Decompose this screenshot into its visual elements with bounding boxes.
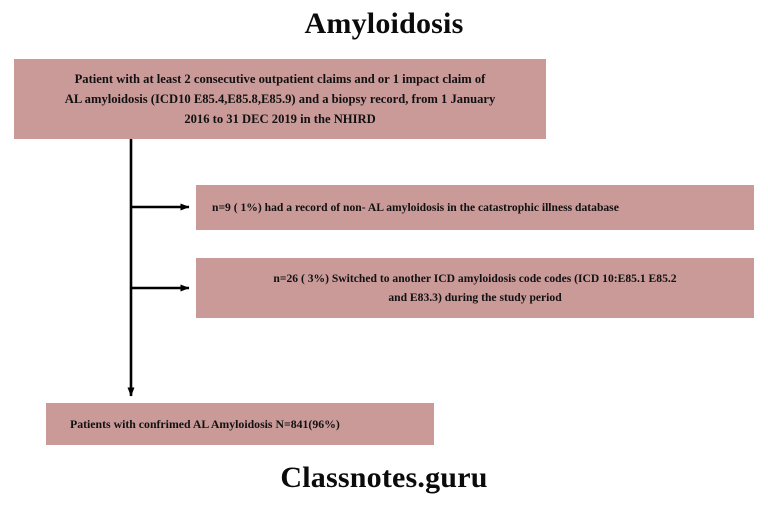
page-title: Amyloidosis [0,6,768,42]
flow-node-exclusion-2: n=26 ( 3%) Switched to another ICD amylo… [196,258,754,318]
exclusion-2-line-2: and E83.3) during the study period [388,291,561,304]
flow-node-exclusion-2-text: n=26 ( 3%) Switched to another ICD amylo… [206,269,744,307]
flow-node-population-text: Patient with at least 2 consecutive outp… [24,69,536,129]
population-line-2: AL amyloidosis (ICD10 E85.4,E85.8,E85.9)… [65,92,496,106]
exclusion-2-line-1: n=26 ( 3%) Switched to another ICD amylo… [273,272,676,285]
result-line-1: Patients with confrimed AL Amyloidosis N… [70,417,340,431]
exclusion-1-line-1: n=9 ( 1%) had a record of non- AL amyloi… [212,201,619,214]
population-line-3: 2016 to 31 DEC 2019 in the NHIRD [184,112,375,126]
page-footer-watermark: Classnotes.guru [0,460,768,496]
flow-node-exclusion-1-text: n=9 ( 1%) had a record of non- AL amyloi… [206,199,744,217]
flow-node-result: Patients with confrimed AL Amyloidosis N… [46,403,434,445]
flow-node-result-text: Patients with confrimed AL Amyloidosis N… [56,415,424,433]
population-line-1: Patient with at least 2 consecutive outp… [75,72,486,86]
flow-node-population: Patient with at least 2 consecutive outp… [14,59,546,139]
flow-node-exclusion-1: n=9 ( 1%) had a record of non- AL amyloi… [196,185,754,230]
flowchart-canvas: Amyloidosis Patient with at least 2 cons… [0,0,768,514]
